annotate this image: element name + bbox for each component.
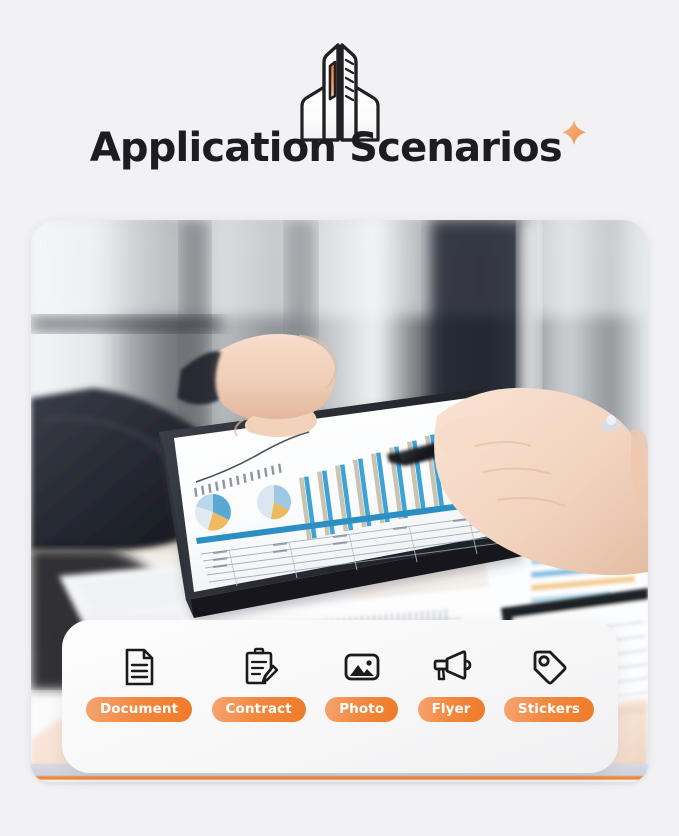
page-header: Application Scenarios bbox=[0, 0, 679, 205]
sparkle-star-icon bbox=[559, 118, 589, 148]
badge-item-photo[interactable]: Photo bbox=[325, 646, 398, 722]
scenario-badge-panel: Document Contract bbox=[62, 620, 618, 773]
badge-item-stickers[interactable]: Stickers bbox=[504, 646, 594, 722]
badge-item-flyer[interactable]: Flyer bbox=[418, 646, 485, 722]
badge-label-document[interactable]: Document bbox=[86, 697, 192, 722]
badge-item-document[interactable]: Document bbox=[86, 646, 192, 722]
badge-item-contract[interactable]: Contract bbox=[212, 646, 306, 722]
badge-label-contract[interactable]: Contract bbox=[212, 697, 306, 722]
image-picture-icon bbox=[341, 646, 383, 688]
badge-row: Document Contract bbox=[62, 646, 618, 722]
document-file-icon bbox=[118, 646, 160, 688]
price-tag-icon bbox=[528, 646, 570, 688]
badge-label-photo[interactable]: Photo bbox=[325, 697, 398, 722]
clipboard-pen-icon bbox=[238, 646, 280, 688]
badge-label-flyer[interactable]: Flyer bbox=[418, 697, 485, 722]
megaphone-icon bbox=[430, 646, 472, 688]
badge-label-stickers[interactable]: Stickers bbox=[504, 697, 594, 722]
page-title: Application Scenarios bbox=[90, 128, 562, 168]
title-row: Application Scenarios bbox=[0, 128, 679, 168]
